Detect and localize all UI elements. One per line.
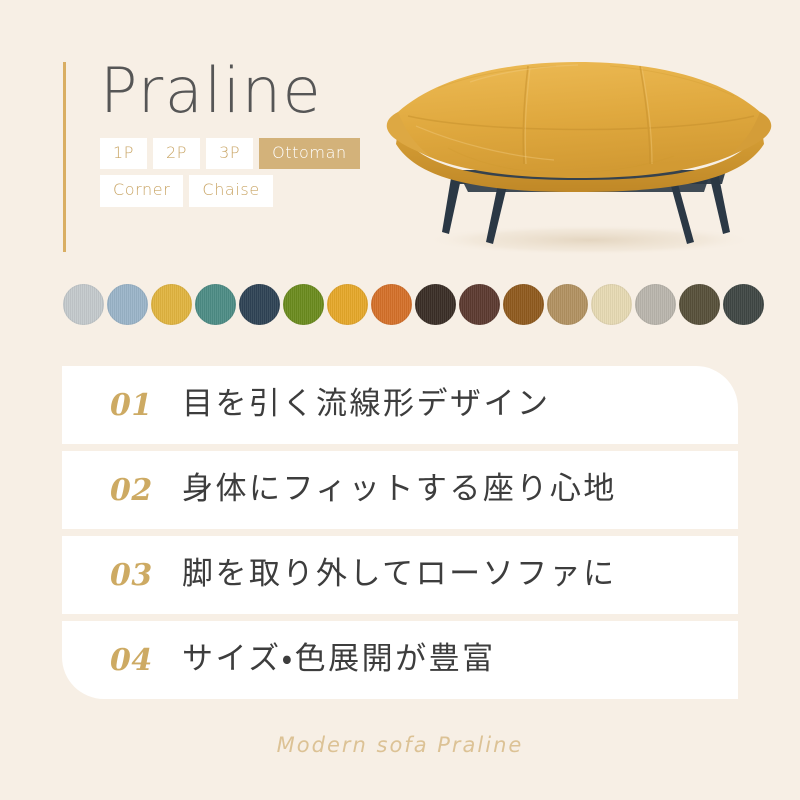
variant-tag-3p[interactable]: 3P — [206, 138, 253, 169]
feature-number-02: 02 — [110, 473, 182, 508]
swatch-dark-navy[interactable] — [239, 284, 280, 325]
variant-tag-1p[interactable]: 1P — [100, 138, 147, 169]
feature-number-03: 03 — [110, 558, 182, 593]
color-swatch-strip — [0, 278, 800, 330]
ottoman-photo — [378, 52, 790, 257]
swatch-dusty-blue[interactable] — [107, 284, 148, 325]
swatch-light-gray[interactable] — [63, 284, 104, 325]
swatch-chestnut[interactable] — [459, 284, 500, 325]
swatch-dark-brown[interactable] — [415, 284, 456, 325]
swatch-orange[interactable] — [371, 284, 412, 325]
hero-section: Praline 1P 2P 3P Ottoman Corner Chaise — [0, 0, 800, 270]
swatch-camel[interactable] — [547, 284, 588, 325]
feature-row-01: 01 目を引く流線形デザイン — [62, 366, 738, 444]
feature-row-04: 04 サイズ・色展開が豊富 — [62, 621, 738, 699]
variant-tag-corner[interactable]: Corner — [100, 175, 183, 206]
feature-text-04: サイズ・色展開が豊富 — [182, 641, 496, 678]
variant-tag-chaise[interactable]: Chaise — [189, 175, 272, 206]
swatch-warm-gray[interactable] — [635, 284, 676, 325]
swatch-teal-green[interactable] — [195, 284, 236, 325]
swatch-ivory[interactable] — [591, 284, 632, 325]
feature-number-04: 04 — [110, 643, 182, 678]
swatch-golden-yellow[interactable] — [327, 284, 368, 325]
feature-text-01: 目を引く流線形デザイン — [182, 386, 551, 423]
swatch-olive-brown[interactable] — [679, 284, 720, 325]
swatch-slate-gray[interactable] — [723, 284, 764, 325]
feature-text-03: 脚を取り外してローソファに — [182, 556, 617, 593]
variant-tag-ottoman[interactable]: Ottoman — [259, 138, 360, 169]
feature-list: 01 目を引く流線形デザイン 02 身体にフィットする座り心地 03 脚を取り外… — [62, 366, 738, 699]
feature-row-02: 02 身体にフィットする座り心地 — [62, 451, 738, 529]
feature-row-03: 03 脚を取り外してローソファに — [62, 536, 738, 614]
variant-tag-2p[interactable]: 2P — [153, 138, 200, 169]
feature-number-01: 01 — [110, 388, 182, 423]
swatch-mustard[interactable] — [151, 284, 192, 325]
feature-text-02: 身体にフィットする座り心地 — [182, 471, 617, 508]
swatch-tan-brown[interactable] — [503, 284, 544, 325]
footer-tagline: Modern sofa Praline — [0, 733, 800, 757]
gold-accent-bar — [63, 62, 66, 252]
swatch-olive-green[interactable] — [283, 284, 324, 325]
product-banner: Praline 1P 2P 3P Ottoman Corner Chaise — [0, 0, 800, 800]
